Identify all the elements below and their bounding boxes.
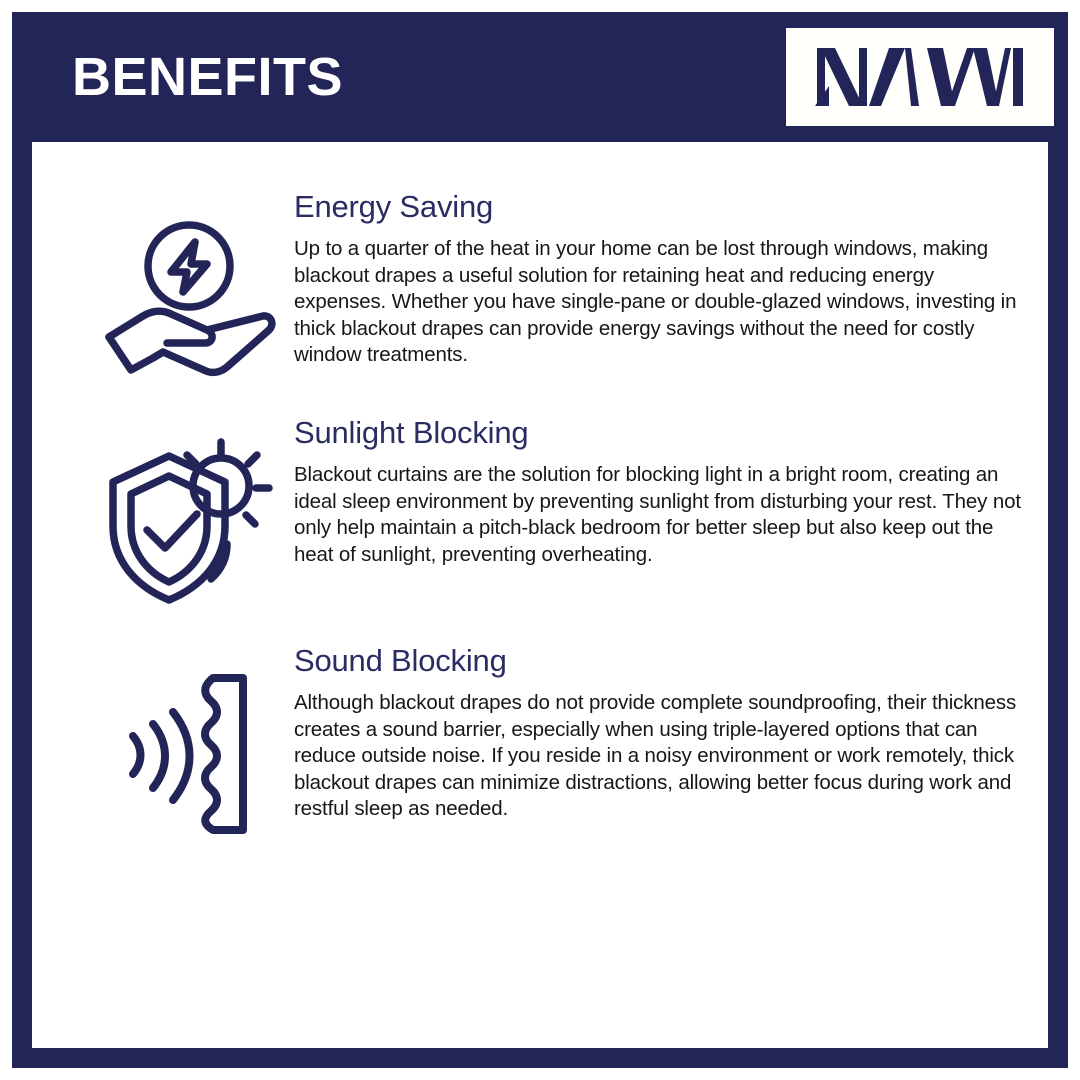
benefits-poster: BENEFITS bbox=[0, 0, 1080, 1080]
benefit-item: Energy Saving Up to a quarter of the hea… bbox=[84, 190, 1028, 380]
benefit-icon-cell bbox=[84, 190, 294, 380]
logo-container bbox=[786, 28, 1054, 126]
benefit-icon-cell bbox=[84, 644, 294, 836]
benefit-text-cell: Sound Blocking Although blackout drapes … bbox=[294, 644, 1028, 823]
benefit-item: Sunlight Blocking Blackout curtains are … bbox=[84, 416, 1028, 608]
page-title: BENEFITS bbox=[72, 50, 343, 104]
benefit-text-cell: Sunlight Blocking Blackout curtains are … bbox=[294, 416, 1028, 568]
sound-waves-acoustic-panel-icon bbox=[119, 670, 259, 836]
hand-holding-energy-bolt-icon bbox=[101, 220, 277, 380]
benefit-title: Sound Blocking bbox=[294, 644, 1024, 678]
benefit-description: Up to a quarter of the heat in your home… bbox=[294, 236, 1024, 369]
navi-logo-icon bbox=[815, 46, 1025, 108]
poster-header: BENEFITS bbox=[12, 12, 1068, 142]
benefit-item: Sound Blocking Although blackout drapes … bbox=[84, 644, 1028, 836]
benefit-text-cell: Energy Saving Up to a quarter of the hea… bbox=[294, 190, 1028, 369]
benefit-description: Blackout curtains are the solution for b… bbox=[294, 462, 1024, 568]
poster-frame: BENEFITS bbox=[12, 12, 1068, 1068]
benefits-list: Energy Saving Up to a quarter of the hea… bbox=[32, 142, 1048, 1048]
shield-check-sun-icon bbox=[103, 438, 275, 608]
benefit-title: Energy Saving bbox=[294, 190, 1024, 224]
benefit-title: Sunlight Blocking bbox=[294, 416, 1024, 450]
benefit-description: Although blackout drapes do not provide … bbox=[294, 690, 1024, 823]
benefit-icon-cell bbox=[84, 416, 294, 608]
